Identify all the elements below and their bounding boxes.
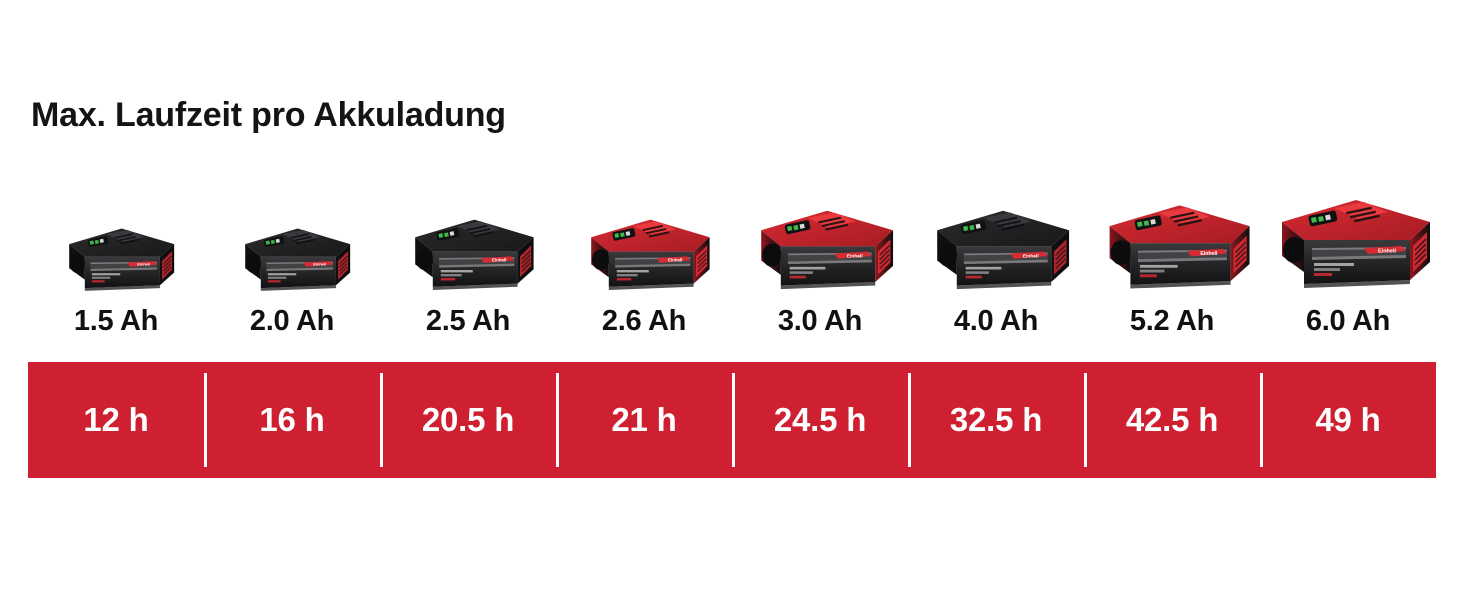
svg-text:Einhell: Einhell — [1200, 251, 1218, 257]
runtime-value-cell: 24.5 h — [732, 362, 908, 478]
runtime-value-cell: 49 h — [1260, 362, 1436, 478]
runtime-value: 21 h — [611, 401, 676, 439]
battery-pack-icon: Einhell — [395, 186, 541, 298]
runtime-value-cell: 32.5 h — [908, 362, 1084, 478]
battery-image-row: Einhell 1.5 Ah — [28, 178, 1436, 338]
runtime-value-cell: 20.5 h — [380, 362, 556, 478]
battery-cell: Einhell 4.0 Ah — [908, 178, 1084, 338]
battery-runtime-infographic: Max. Laufzeit pro Akkuladung — [0, 0, 1464, 600]
page-title: Max. Laufzeit pro Akkuladung — [31, 96, 506, 135]
runtime-value-bar: 12 h16 h20.5 h21 h24.5 h32.5 h42.5 h49 h — [28, 362, 1436, 478]
battery-capacity-label: 2.6 Ah — [602, 305, 686, 338]
battery-capacity-label: 2.5 Ah — [426, 305, 510, 338]
battery-pack-icon: Einhell — [917, 186, 1075, 298]
runtime-value: 49 h — [1315, 401, 1380, 439]
svg-text:Einhell: Einhell — [847, 253, 864, 259]
battery-cell: Einhell 2.5 Ah — [380, 178, 556, 338]
runtime-value: 16 h — [259, 401, 324, 439]
battery-cell: Einhell 6.0 Ah — [1260, 178, 1436, 338]
svg-text:Einhell: Einhell — [313, 262, 326, 267]
battery-pack-icon: Einhell — [226, 186, 358, 298]
battery-pack-icon: Einhell — [1260, 186, 1436, 298]
runtime-value: 12 h — [83, 401, 148, 439]
runtime-value: 20.5 h — [422, 401, 514, 439]
runtime-value: 32.5 h — [950, 401, 1042, 439]
battery-pack-icon: Einhell — [1088, 186, 1256, 298]
battery-cell: Einhell 2.0 Ah — [204, 178, 380, 338]
battery-cell: Einhell 5.2 Ah — [1084, 178, 1260, 338]
battery-cell: Einhell 3.0 Ah — [732, 178, 908, 338]
battery-capacity-label: 1.5 Ah — [74, 305, 158, 338]
battery-pack-icon: Einhell — [571, 186, 717, 298]
svg-text:Einhell: Einhell — [668, 258, 682, 263]
battery-capacity-label: 3.0 Ah — [778, 305, 862, 338]
battery-pack-icon: Einhell — [50, 186, 182, 298]
runtime-value-cell: 42.5 h — [1084, 362, 1260, 478]
runtime-value-cell: 12 h — [28, 362, 204, 478]
svg-text:Einhell: Einhell — [137, 262, 150, 267]
runtime-value: 42.5 h — [1126, 401, 1218, 439]
runtime-value: 24.5 h — [774, 401, 866, 439]
battery-capacity-label: 6.0 Ah — [1306, 305, 1390, 338]
svg-text:Einhell: Einhell — [1378, 249, 1397, 255]
svg-text:Einhell: Einhell — [492, 258, 506, 263]
runtime-value-cell: 16 h — [204, 362, 380, 478]
svg-text:Einhell: Einhell — [1023, 253, 1040, 259]
battery-cell: Einhell 2.6 Ah — [556, 178, 732, 338]
runtime-value-cell: 21 h — [556, 362, 732, 478]
battery-cell: Einhell 1.5 Ah — [28, 178, 204, 338]
battery-pack-icon: Einhell — [741, 186, 899, 298]
battery-capacity-label: 5.2 Ah — [1130, 305, 1214, 338]
battery-capacity-label: 4.0 Ah — [954, 305, 1038, 338]
battery-capacity-label: 2.0 Ah — [250, 305, 334, 338]
